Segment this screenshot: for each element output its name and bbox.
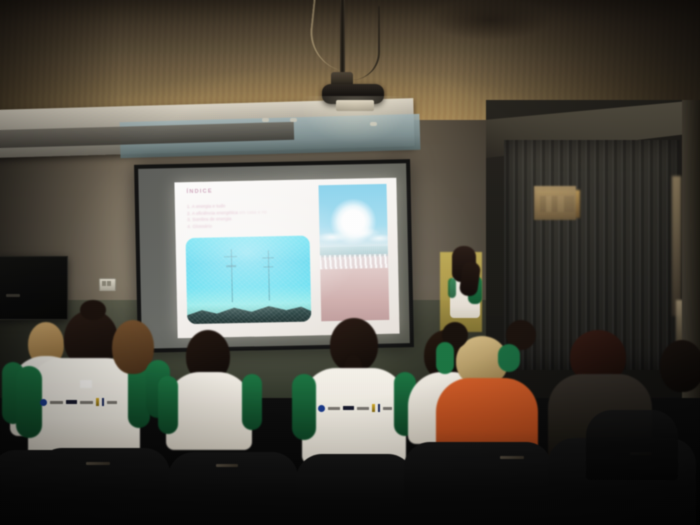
sponsor-logo-row [40,398,117,406]
sponsor-logo-wordmark-3 [383,407,392,410]
sponsor-logo-gold-bar [372,404,375,412]
monitor-brand-logo [6,294,20,297]
sleeve-green [158,376,178,434]
auditorium-chair[interactable] [296,454,414,525]
valance-screw [290,118,297,122]
sponsor-logo-navy-bar [102,398,104,406]
clouds [319,220,388,247]
shirt-tag [80,380,92,388]
chair-back-name-plate [86,462,110,465]
auditorium-chair[interactable] [586,410,678,480]
sponsor-logo-circle-blue [40,399,47,406]
slide-item-number: 3. [187,217,191,222]
auditorium-chair[interactable] [168,452,298,525]
auditorium-chair[interactable] [36,448,170,525]
slide-item-text: Sombra de energia [192,216,231,222]
sponsor-logo-wordmark-1 [50,401,63,404]
sleeve-green [436,342,454,374]
sponsor-logo-aipm [343,406,354,410]
image-grain [186,236,312,325]
valance-screw [262,118,269,122]
sleeve-green [498,344,520,372]
slide-item-text: Glossário [192,223,212,228]
shirt-white [28,358,140,458]
slide-item-number: 4. [187,224,191,229]
sleeve-green [242,374,262,430]
slide-item-number: 2. [187,211,191,216]
hair-bun [80,300,106,320]
presenter-sleeve-green-left [448,278,456,298]
sleeve-green [292,374,316,440]
sponsor-logo-row [318,404,392,412]
chair-back-name-plate [500,456,524,459]
sponsor-logo-wordmark-2 [357,407,369,410]
sponsor-logo-circle-blue [318,405,325,412]
shirt-white [302,368,406,464]
shirt-white [166,372,252,450]
slide-item-text-dim: em casa e no [239,209,267,215]
curtain-edge-light [672,176,681,316]
auditorium-presentation-photo: ÍNDICE 1. A energia e tudo 2. A eficiênc… [0,0,700,525]
sponsor-logo-gold-bar [96,398,99,406]
head-silhouette [660,340,700,392]
slide-item-number: 1. [187,204,191,209]
sponsor-logo-aipm [66,400,77,404]
slide-image-power-lines [186,236,312,325]
sponsor-logo-navy-bar [378,404,380,412]
slide-item-text: A energia e tudo [192,203,226,209]
sleeve-green [16,366,42,438]
projector-mount-rod [340,0,345,78]
sponsor-logo-wordmark-3 [107,401,117,404]
projector-beam-glow [300,96,410,144]
wall-mounted-monitor [0,256,68,320]
slide-list-item: 4. Glossário [187,221,317,230]
slide-index-list: 1. A energia e tudo 2. A eficiência ener… [187,201,318,230]
sponsor-logo-wordmark-1 [328,407,340,410]
sand [320,268,389,321]
sponsor-logo-wordmark-2 [80,401,93,404]
light-switch-rockers[interactable] [102,281,111,286]
chair-back-name-plate [216,464,238,467]
wall-poster [534,186,576,220]
slide-image-beach-sun [318,184,389,321]
slide-item-text: A eficiência energética [192,210,238,216]
presentation-slide: ÍNDICE 1. A energia e tudo 2. A eficiênc… [174,178,399,339]
slide-title: ÍNDICE [187,189,213,196]
auditorium-chair[interactable] [404,442,552,525]
